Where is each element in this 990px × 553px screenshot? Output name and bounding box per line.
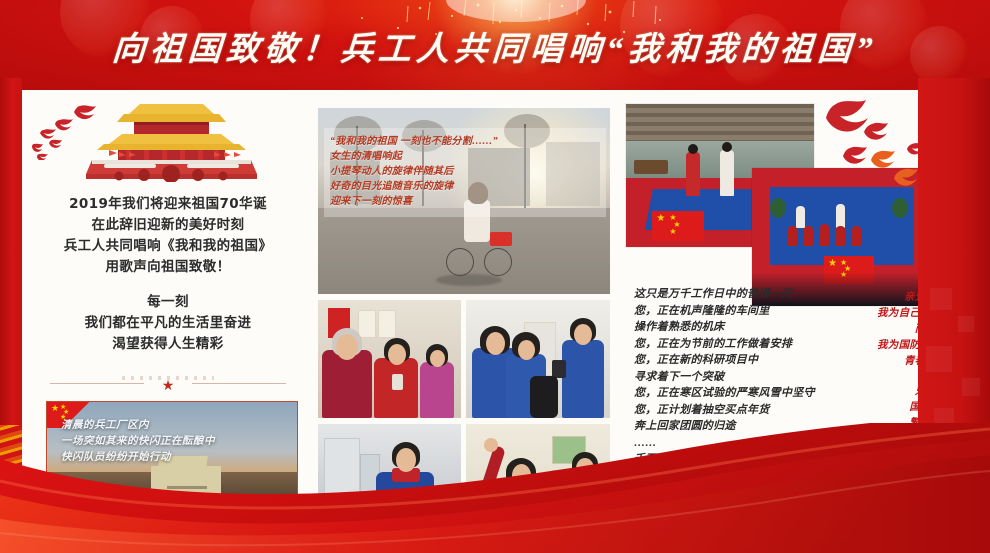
choir-member <box>836 226 845 246</box>
spacer <box>856 370 918 384</box>
choir-member <box>820 224 829 246</box>
bicycle-street-photo: “我和我的祖国 一刻也不能分割……” 女生的清唱响起 小提琴动人的旋律伴随其后 … <box>318 108 610 294</box>
choir-member <box>852 226 861 246</box>
lead-paragraph: 2019年我们将迎来祖国70华诞 在此辞旧迎新的美好时刻 兵工人共同唱响《我和我… <box>22 194 314 355</box>
lead-line: 2019年我们将迎来祖国70华诞 <box>22 194 314 215</box>
red-poem-line: 我为自己是一名兵工人 <box>856 306 918 322</box>
poem-line: 您，正在新的科研项目中 <box>634 352 849 369</box>
red-poem-line: 我为国防事业挥洒汗水 <box>856 338 918 354</box>
square-pattern <box>958 316 974 332</box>
poem-line: 您，正计划着抽空买点年货 <box>634 402 849 419</box>
flag-star: ★ <box>828 260 837 268</box>
caption-line: 小提琴动人的旋律伴随其后 <box>330 164 600 179</box>
lead-line: 每一刻 <box>22 292 314 313</box>
red-ribbon-wave <box>0 423 990 553</box>
doves-icon <box>816 96 918 216</box>
caption-line: 好奇的目光追随音乐的旋律 <box>330 179 600 194</box>
poem-line: 操作着熟悉的机床 <box>634 319 849 336</box>
lead-line: 我们都在平凡的生活里奋进 <box>22 313 314 334</box>
person-head <box>518 340 535 360</box>
person-head <box>388 344 406 365</box>
square-pattern <box>962 378 980 396</box>
choir-member <box>804 226 813 246</box>
person-figure <box>562 340 604 418</box>
divider-line-right <box>192 383 286 384</box>
grid-photo-office-workers <box>466 300 610 418</box>
poem-line: 您，正在为节前的工作做着安排 <box>634 336 849 353</box>
wall-note <box>378 310 396 338</box>
choir-member <box>788 226 797 246</box>
square-pattern <box>930 288 952 310</box>
poem-line: 这只是万千工作日中的普通一天 <box>634 286 849 303</box>
poster-canvas: 向祖国致敬！兵工人共同唱响“我和我的祖国” <box>0 0 990 553</box>
phone <box>552 360 566 378</box>
divider-line-left <box>50 383 144 384</box>
header-banner: 向祖国致敬！兵工人共同唱响“我和我的祖国” <box>0 0 990 92</box>
flag-star: ★ <box>669 228 676 236</box>
red-poem-line: 青春无悔！ <box>856 354 918 370</box>
caption-line: 迎来下一刻的惊喜 <box>330 194 600 209</box>
spacer <box>22 278 314 292</box>
performer-head <box>688 144 698 154</box>
flag-star: ★ <box>51 405 59 412</box>
bicycle-wheel <box>446 248 474 276</box>
red-poem-line: 亲爱的祖国 <box>856 290 918 306</box>
tiananmen-gate-icon <box>74 100 269 182</box>
equipment <box>634 160 668 174</box>
person-head <box>336 334 358 360</box>
poem-line: 寻求着下一个突破 <box>634 369 849 386</box>
performer <box>720 150 734 196</box>
grid-photo-elderly-women <box>318 300 461 418</box>
office-chair <box>530 376 558 418</box>
person-head <box>486 332 505 355</box>
caption-line: 女生的清唱响起 <box>330 149 600 164</box>
person-head <box>430 350 445 367</box>
bicycle-wheel <box>484 248 512 276</box>
choir-member <box>796 206 805 228</box>
ribbon-svg <box>0 423 990 553</box>
page-title: 向祖国致敬！兵工人共同唱响“我和我的祖国” <box>0 0 990 92</box>
flag-star: ★ <box>656 215 665 223</box>
wall-note <box>358 310 376 338</box>
poem-line: 您，正在寒区试验的严寒风雪中坚守 <box>634 385 849 402</box>
lead-line: 渴望获得人生精彩 <box>22 334 314 355</box>
phone <box>392 374 403 390</box>
person-head <box>574 324 592 345</box>
square-pattern <box>926 346 952 372</box>
person-figure <box>322 350 372 418</box>
bicycle-photo-caption: “我和我的祖国 一刻也不能分割……” 女生的清唱响起 小提琴动人的旋律伴随其后 … <box>324 128 606 217</box>
performer-head <box>722 142 732 152</box>
red-poem-line: 而骄傲 <box>856 322 918 338</box>
cyclist-shadow <box>436 274 502 286</box>
plant <box>770 198 786 218</box>
lead-line: 在此辞旧迎新的美好时刻 <box>22 215 314 236</box>
star-icon: ★ <box>161 378 175 392</box>
lead-line: 用歌声向祖国致敬！ <box>22 257 314 278</box>
divider: ★ <box>50 376 286 390</box>
poem-line: 您，正在机声隆隆的车间里 <box>634 303 849 320</box>
red-poem-line: 国泰民安 <box>856 400 918 416</box>
china-flag: ★ ★ ★ ★ <box>652 211 704 241</box>
caption-line: “我和我的祖国 一刻也不能分割……” <box>330 134 600 149</box>
red-closing-poem: 亲爱的祖国 我为自己是一名兵工人 而骄傲 我为国防事业挥洒汗水 青春无悔！ 只为… <box>856 290 918 432</box>
lead-line: 兵工人共同唱响《我和我的祖国》 <box>22 236 314 257</box>
performer <box>686 152 700 196</box>
person-figure <box>420 362 454 418</box>
red-poem-line: 只为您 <box>856 384 918 400</box>
bicycle-basket <box>490 232 512 246</box>
